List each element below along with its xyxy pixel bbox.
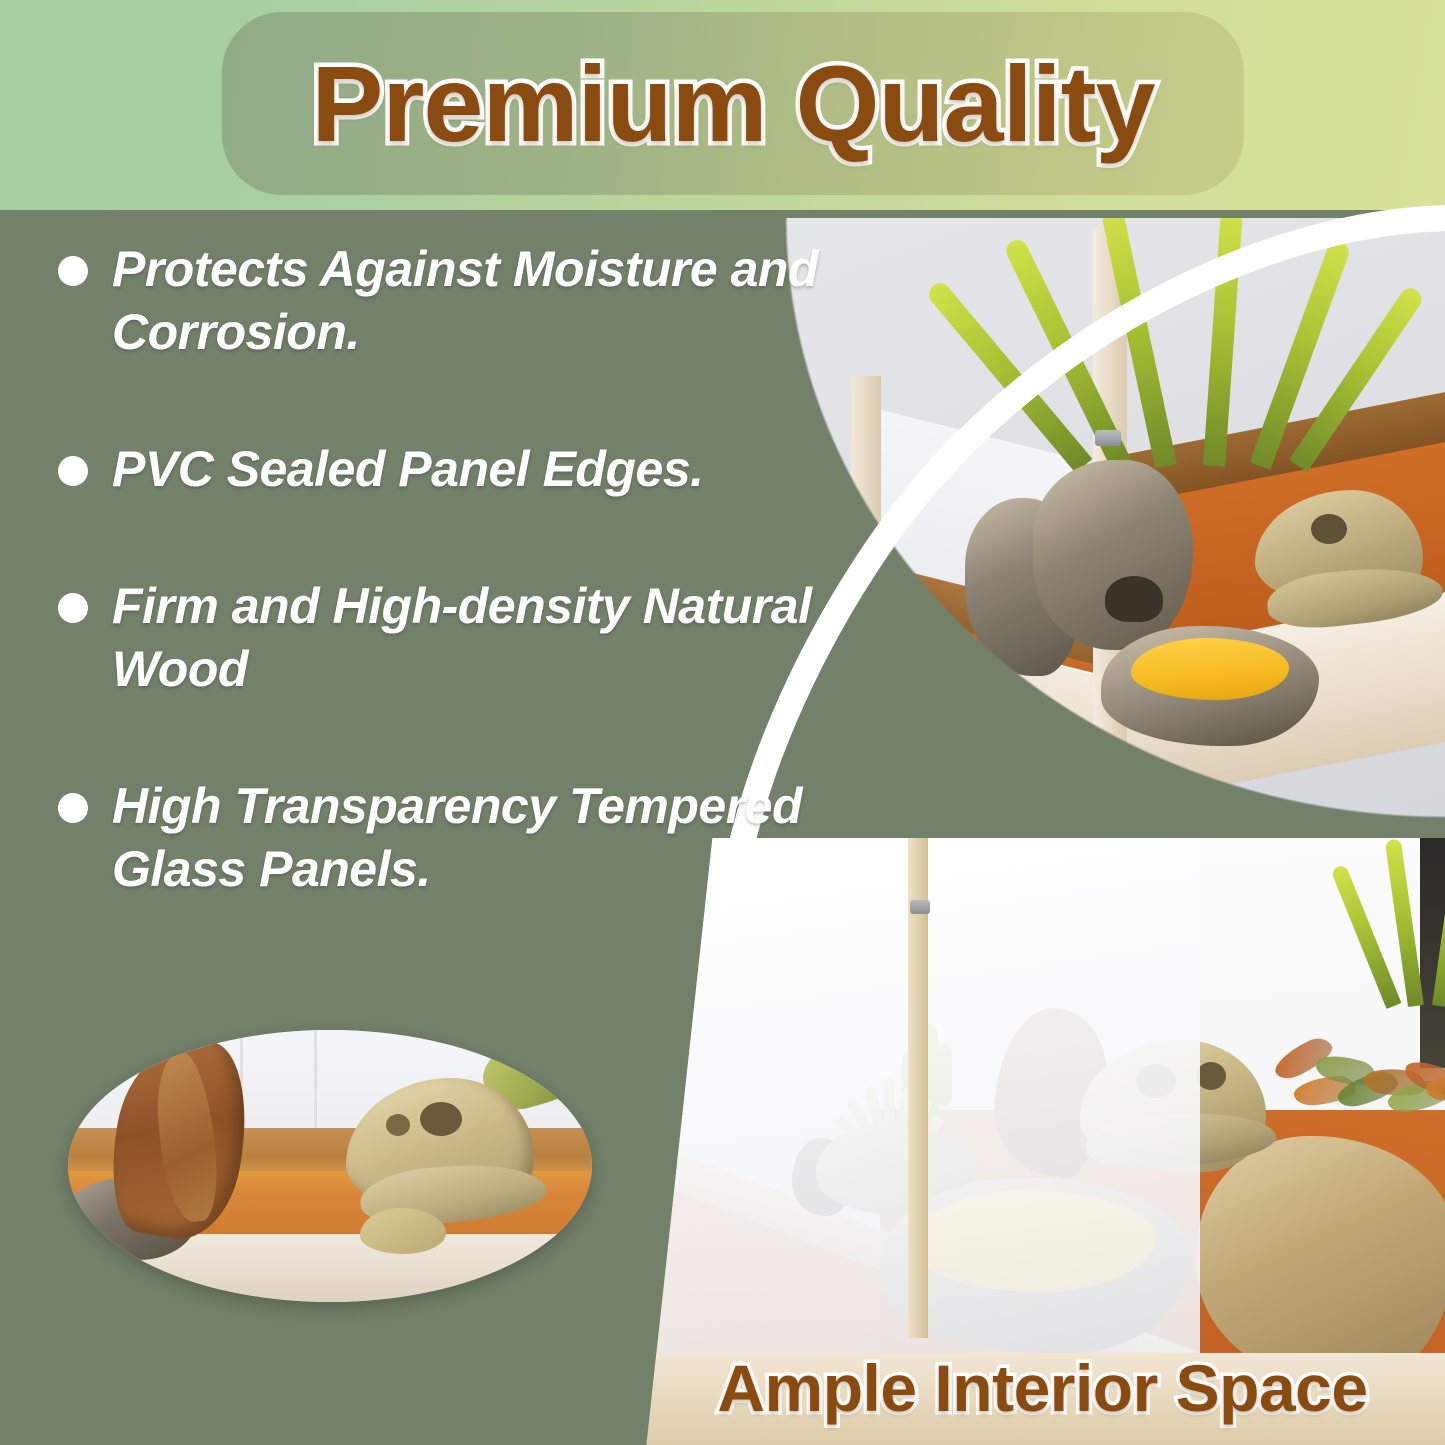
glass-seam-2 — [314, 1030, 317, 1136]
product-feature-graphic: Premium Quality — [0, 0, 1445, 1445]
bullet-dot-icon — [58, 793, 88, 823]
feature-list: Protects Against Moisture and Corrosion.… — [58, 238, 838, 975]
bullet-dot-icon — [58, 593, 88, 623]
feature-text: Firm and High-density Natural Wood — [112, 575, 838, 701]
fern-plant-right-icon — [1382, 838, 1445, 1006]
bullet-dot-icon — [58, 256, 88, 286]
screw-icon-2 — [910, 900, 930, 914]
list-item: PVC Sealed Panel Edges. — [58, 438, 838, 501]
feature-text: PVC Sealed Panel Edges. — [112, 438, 704, 501]
caption-ample-interior-space: Ample Interior Space — [640, 1340, 1445, 1435]
feature-text: Protects Against Moisture and Corrosion. — [112, 238, 838, 364]
header-pill-backdrop: Premium Quality — [222, 12, 1244, 195]
header-band: Premium Quality — [0, 0, 1445, 210]
list-item: Protects Against Moisture and Corrosion. — [58, 238, 838, 364]
skull-eye-socket-oval — [420, 1102, 462, 1136]
photo-terrarium-closeup-oval — [68, 1030, 592, 1302]
page-title: Premium Quality — [222, 12, 1244, 195]
dinosaur-skull-eye-socket-3 — [1196, 1062, 1226, 1090]
skull-eye-socket-oval-2 — [386, 1114, 410, 1136]
bullet-dot-icon — [58, 456, 88, 486]
list-item: Firm and High-density Natural Wood — [58, 575, 838, 701]
plant-cluster-right — [1276, 1020, 1445, 1150]
list-item: High Transparency Tempered Glass Panels. — [58, 775, 838, 901]
plant-base-oval — [360, 1208, 446, 1254]
fern-frond — [1432, 846, 1445, 1007]
feature-text: High Transparency Tempered Glass Panels. — [112, 775, 838, 901]
